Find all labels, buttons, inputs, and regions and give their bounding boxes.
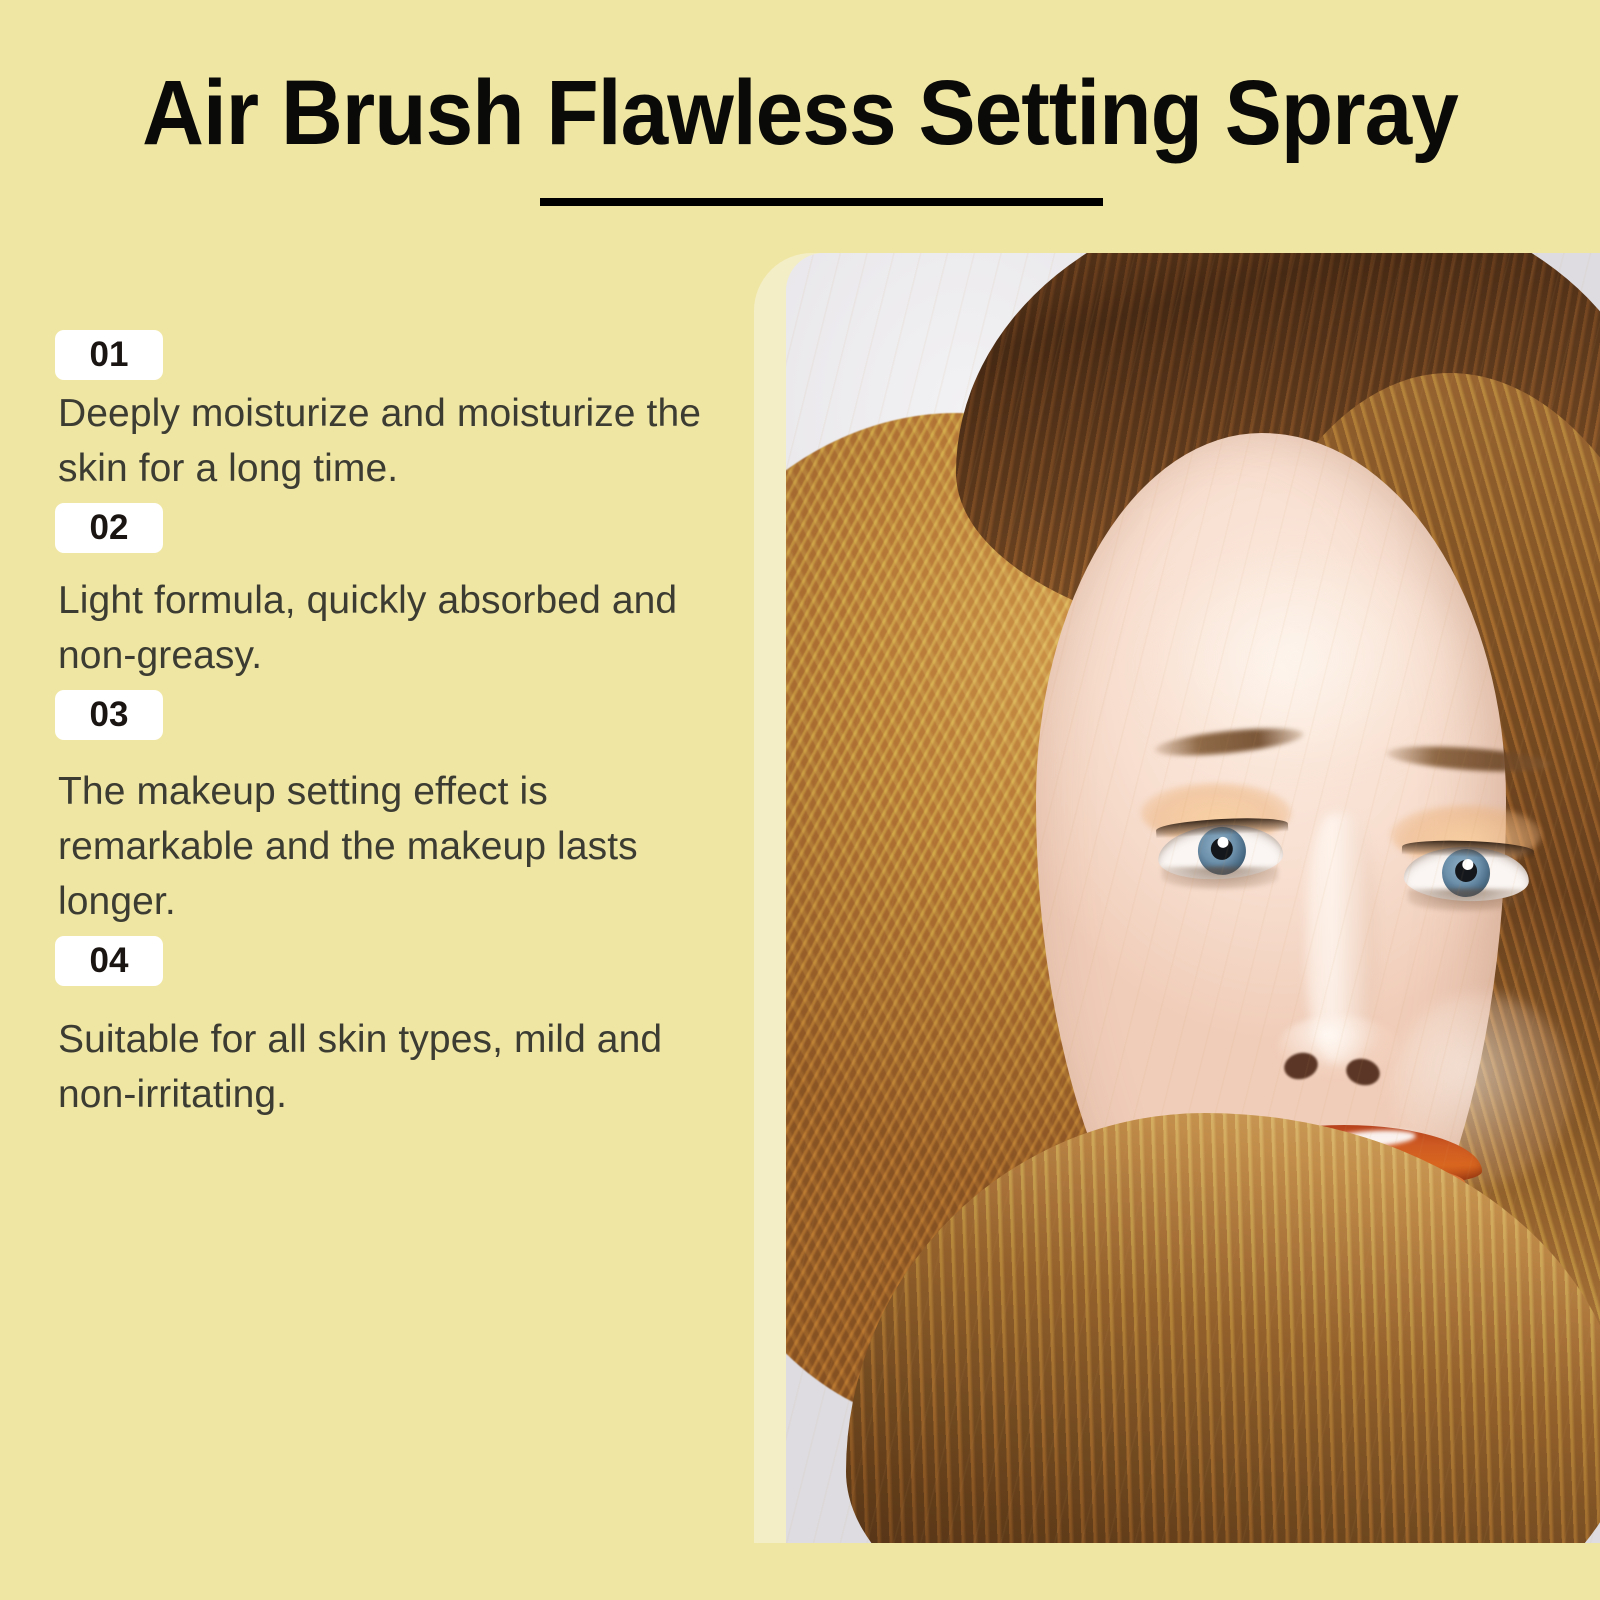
feature-item-01: 01 Deeply moisturize and moisturize the … — [55, 330, 725, 497]
feature-text-02: Light formula, quickly absorbed and non-… — [58, 573, 678, 684]
feature-text-01: Deeply moisturize and moisturize the ski… — [58, 386, 708, 497]
feature-text-03: The makeup setting effect is remarkable … — [58, 764, 698, 930]
feature-number-badge-02: 02 — [55, 503, 163, 553]
feature-item-02: 02 Light formula, quickly absorbed and n… — [55, 503, 725, 684]
feature-number-badge-03: 03 — [55, 690, 163, 740]
feature-item-04: 04 Suitable for all skin types, mild and… — [55, 936, 725, 1123]
page-title: Air Brush Flawless Setting Spray — [56, 64, 1544, 163]
model-portrait-photo — [786, 253, 1600, 1543]
title-underline — [540, 198, 1103, 206]
under-eye-shadow-left — [1162, 867, 1278, 889]
feature-number-badge-01: 01 — [55, 330, 163, 380]
feature-item-03: 03 The makeup setting effect is remarkab… — [55, 690, 725, 930]
photo-frame — [754, 253, 1600, 1543]
feature-list: 01 Deeply moisturize and moisturize the … — [55, 330, 725, 1122]
under-eye-shadow-right — [1408, 889, 1524, 911]
header: Air Brush Flawless Setting Spray — [0, 0, 1600, 235]
feature-text-04: Suitable for all skin types, mild and no… — [58, 1012, 725, 1123]
feature-number-badge-04: 04 — [55, 936, 163, 986]
